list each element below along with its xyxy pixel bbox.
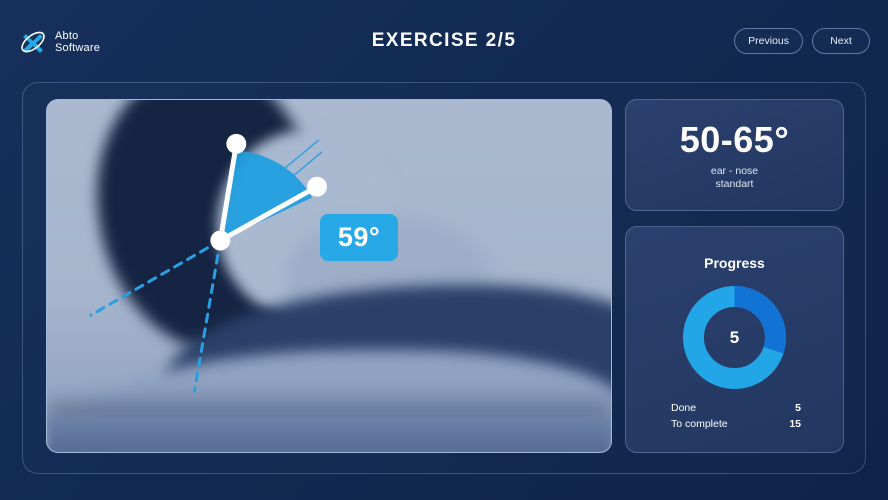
app-root: Abto Software EXERCISE 2/5 Previous Next [0,0,888,500]
navigation-buttons: Previous Next [734,28,870,54]
target-range-subtitle-line1: ear - nose [711,165,758,178]
app-header: Abto Software EXERCISE 2/5 Previous Next [0,0,888,82]
progress-card: Progress 5 Done 5 To complete 15 [625,226,844,453]
progress-stats: Done 5 To complete 15 [671,400,801,432]
nose-keypoint [307,177,327,197]
next-button[interactable]: Next [812,28,870,54]
vertex-keypoint [210,231,230,251]
stat-row-done: Done 5 [671,400,801,416]
progress-title: Progress [626,255,843,271]
previous-button[interactable]: Previous [734,28,803,54]
stat-value-done: 5 [795,400,801,416]
stat-value-to-complete: 15 [789,416,801,432]
angle-badge: 59° [320,214,398,261]
pose-overlay [47,100,611,453]
guide-line-horizontal [91,240,221,315]
stat-row-to-complete: To complete 15 [671,416,801,432]
progress-donut-chart: 5 [682,285,787,390]
stat-label-to-complete: To complete [671,416,728,432]
target-range-card: 50-65° ear - nose standart [625,99,844,211]
donut-center-value: 5 [682,285,787,390]
target-range-value: 50-65° [680,120,789,160]
stat-label-done: Done [671,400,696,416]
target-range-subtitle-line2: standart [711,178,758,191]
ear-keypoint [226,134,246,154]
exercise-video-panel[interactable]: 59° [46,99,612,453]
target-range-subtitle: ear - nose standart [711,165,758,191]
guide-line-vertical [194,240,220,390]
